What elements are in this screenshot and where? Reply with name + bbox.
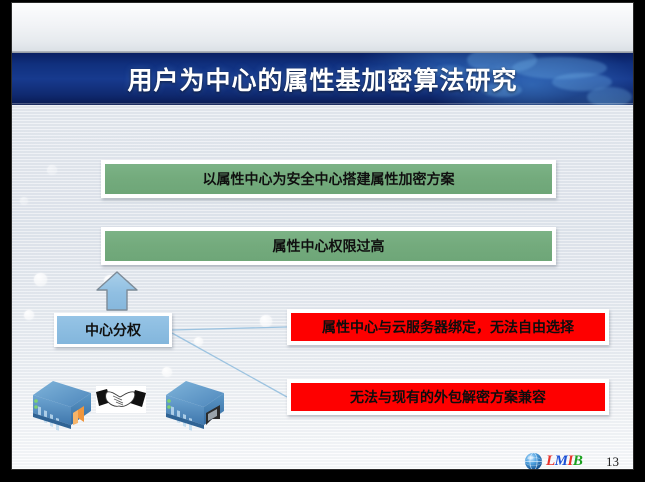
bubble-decoration <box>260 315 272 327</box>
slide-top-strip <box>12 3 633 53</box>
bubble-decoration <box>24 310 34 320</box>
green-box-problem[interactable]: 属性中心权限过高 <box>101 227 556 265</box>
red-box-compatibility-issue[interactable]: 无法与现有的外包解密方案兼容 <box>287 379 609 415</box>
server-building-icon-right <box>160 377 232 439</box>
lmib-logo: L M I B <box>524 452 582 469</box>
up-arrow-icon <box>95 270 139 312</box>
handshake-icon <box>96 386 146 413</box>
bubble-decoration <box>20 197 28 205</box>
bubble-decoration <box>194 337 203 346</box>
logo-letter-b: B <box>573 453 583 469</box>
green-box-solution[interactable]: 以属性中心为安全中心搭建属性加密方案 <box>101 160 556 198</box>
logo-letter-m: M <box>555 453 568 469</box>
green-box-problem-label: 属性中心权限过高 <box>273 236 385 256</box>
slide-title-band: 用户为中心的属性基加密算法研究 <box>12 53 633 105</box>
bubble-decoration <box>162 367 172 377</box>
logo-letter-l: L <box>546 453 555 469</box>
blue-box-decentralization-label: 中心分权 <box>85 320 141 340</box>
red-box-binding-issue-label: 属性中心与云服务器绑定，无法自由选择 <box>322 317 574 337</box>
green-box-solution-label: 以属性中心为安全中心搭建属性加密方案 <box>203 169 455 189</box>
red-box-compatibility-issue-label: 无法与现有的外包解密方案兼容 <box>350 387 546 407</box>
blue-box-decentralization[interactable]: 中心分权 <box>54 313 172 347</box>
server-building-icon-left <box>27 377 99 439</box>
presentation-slide: 用户为中心的属性基加密算法研究 以属性中心为安全中心搭建属性加密方案 属性中心权… <box>12 3 633 469</box>
page-title: 用户为中心的属性基加密算法研究 <box>12 53 633 105</box>
red-box-binding-issue[interactable]: 属性中心与云服务器绑定，无法自由选择 <box>287 309 609 345</box>
slide-body: 以属性中心为安全中心搭建属性加密方案 属性中心权限过高 中心分权 属性中心与云服… <box>12 105 633 469</box>
globe-icon <box>524 452 543 469</box>
page-number: 13 <box>606 454 619 469</box>
bubble-decoration <box>34 273 47 286</box>
bubble-decoration <box>47 165 57 175</box>
